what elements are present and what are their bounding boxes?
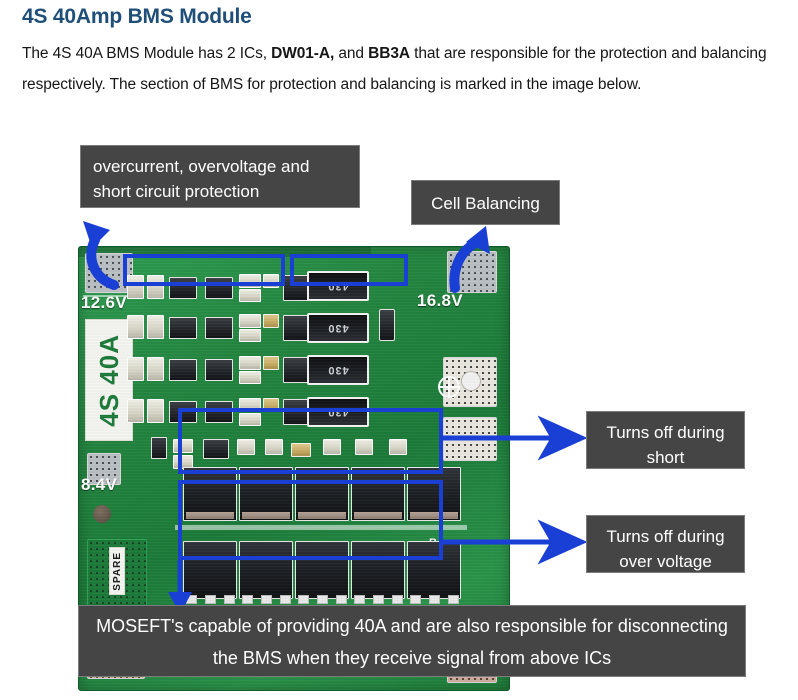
callout-protection-text: overcurrent, overvoltage and short circu…: [93, 157, 309, 201]
callout-turns-off-overvoltage-text: Turns off during over voltage: [606, 527, 724, 571]
mosfet-leg: [242, 595, 253, 604]
paragraph-part-2: and: [334, 45, 368, 62]
resistor: [263, 356, 279, 370]
capacitor: [93, 505, 111, 523]
ic-name-bb3a: BB3A: [368, 45, 410, 62]
mounting-hole: [462, 372, 480, 390]
mosfet-leg: [261, 595, 272, 604]
resistor: [239, 356, 261, 370]
highlight-mosfet-bottom: [178, 480, 443, 560]
protection-row: [127, 309, 439, 343]
callout-mosfet-caption: MOSEFT's capable of providing 40A and ar…: [78, 605, 746, 677]
article-text-block: 4S 40Amp BMS Module The 4S 40A BMS Modul…: [22, 0, 780, 100]
callout-protection: overcurrent, overvoltage and short circu…: [80, 145, 360, 208]
board-rating-text: 4S 40A: [94, 334, 125, 427]
callout-turns-off-short: Turns off during short: [586, 411, 745, 469]
component: [147, 357, 164, 381]
component: [147, 315, 164, 339]
component: [127, 399, 144, 423]
callout-turns-off-short-text: Turns off during short: [606, 423, 724, 467]
mosfet-leg: [410, 595, 421, 604]
balancing-resistor: 430: [307, 355, 369, 385]
mosfet-leg: [336, 595, 347, 604]
mosfet-leg: [317, 595, 328, 604]
component: [147, 399, 164, 423]
highlight-mosfet-top: [178, 408, 443, 474]
component: [127, 357, 144, 381]
resistor: [239, 371, 261, 384]
mosfet-leg: [186, 595, 197, 604]
resistor: [239, 329, 261, 342]
board-rating-label: 4S 40A: [85, 319, 133, 441]
mosfet-leg: [354, 595, 365, 604]
page-title: 4S 40Amp BMS Module: [22, 4, 780, 30]
callout-cell-balancing-text: Cell Balancing: [431, 194, 540, 213]
callout-mosfet-caption-text: MOSEFT's capable of providing 40A and ar…: [96, 616, 728, 668]
ic-name-dw01a: DW01-A,: [271, 45, 334, 62]
resistor: [263, 314, 279, 328]
transistor: [205, 317, 233, 339]
intro-paragraph: The 4S 40A BMS Module has 2 ICs, DW01-A,…: [22, 38, 778, 100]
balancing-resistor: 430: [307, 313, 369, 343]
bms-annotated-figure: 4S 40A 12.6V 16.8V 8.4V 4.2V 0V SPARE: [0, 118, 798, 700]
mosfet-leg: [448, 595, 459, 604]
pad-array-right-mid: [443, 417, 497, 461]
pad-b-minus-right: [447, 251, 497, 293]
protection-row: [127, 351, 439, 385]
mosfet-leg: [280, 595, 291, 604]
transistor: [169, 317, 197, 339]
mosfet-leg: [224, 595, 235, 604]
component: [151, 437, 167, 459]
mosfet-leg: [205, 595, 216, 604]
mosfet-leg: [429, 595, 440, 604]
resistor: [239, 314, 261, 328]
component: [127, 315, 144, 339]
transistor: [205, 359, 233, 381]
resistor: [239, 289, 261, 302]
mosfet-leg: [373, 595, 384, 604]
paragraph-part-1: The 4S 40A BMS Module has 2 ICs,: [22, 45, 271, 62]
mosfet-leg: [298, 595, 309, 604]
highlight-protection-right: [290, 254, 408, 286]
polarity-plus-icon: [437, 375, 461, 399]
board-label-spare: SPARE: [109, 547, 125, 595]
board-label-12v6: 12.6V: [81, 293, 127, 313]
callout-cell-balancing: Cell Balancing: [411, 180, 560, 225]
mosfet-leg: [392, 595, 403, 604]
callout-turns-off-overvoltage: Turns off during over voltage: [586, 515, 745, 573]
board-label-8v4: 8.4V: [81, 475, 117, 495]
highlight-protection-left: [123, 254, 285, 286]
transistor: [169, 359, 197, 381]
